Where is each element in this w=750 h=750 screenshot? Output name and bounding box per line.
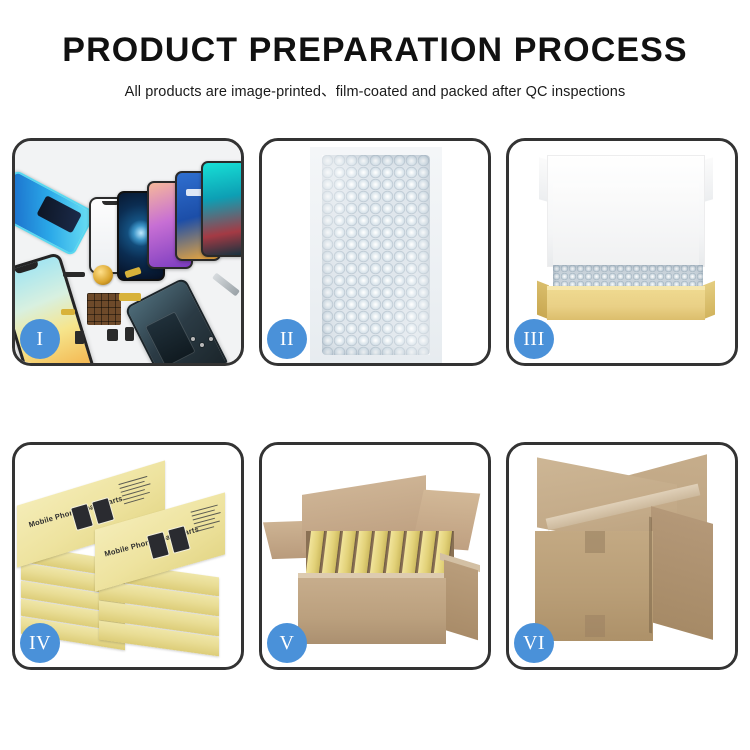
process-step-grid: I II III [12, 138, 738, 670]
chip-part-2 [75, 331, 84, 344]
bubble-wrap-gloss [322, 155, 430, 355]
step-badge-3: III [514, 319, 554, 359]
page-header: PRODUCT PREPARATION PROCESS All products… [0, 0, 750, 101]
step-badge-6: VI [514, 623, 554, 663]
process-step-panel-4[interactable]: Mobile Phone Spare Parts Mobile Phone Sp… [12, 442, 244, 670]
tweezer-tool [212, 273, 240, 297]
process-step-panel-2[interactable]: II [259, 138, 491, 366]
phone-internals-opened [124, 277, 230, 363]
page-subtitle: All products are image-printed、film-coat… [0, 80, 750, 101]
inner-box-front-panel [547, 290, 705, 320]
inner-box-foam-sheet [553, 183, 699, 265]
step-badge-4: IV [20, 623, 60, 663]
chip-part-4 [125, 327, 134, 341]
chip-part-1 [63, 272, 85, 277]
process-step-panel-5[interactable]: V [259, 442, 491, 670]
carton-front-face [298, 578, 446, 644]
page-title: PRODUCT PREPARATION PROCESS [0, 33, 750, 69]
process-step-panel-3[interactable]: III [506, 138, 738, 366]
flex-cable-2 [119, 293, 141, 301]
speaker-coil-part [93, 265, 113, 285]
chip-part-3 [107, 329, 118, 341]
flex-cable-3 [61, 309, 75, 315]
screw-part-2 [200, 343, 204, 347]
process-step-panel-6[interactable]: VI [506, 442, 738, 670]
step-badge-1: I [20, 319, 60, 359]
sealed-carton-right-face [651, 506, 713, 640]
step-badge-2: II [267, 319, 307, 359]
screw-part-1 [191, 337, 195, 341]
sealed-carton-flap-tab-bottom [585, 615, 605, 637]
phone-screen-teal [201, 161, 241, 257]
screw-mat-part [87, 293, 121, 325]
phone-tilted-cyan [15, 169, 96, 256]
step-badge-5: V [267, 623, 307, 663]
screw-part-3 [209, 337, 213, 341]
sealed-carton-vertical-edge [649, 517, 652, 634]
process-step-panel-1[interactable]: I [12, 138, 244, 366]
carton-right-face [444, 560, 478, 640]
sealed-carton-flap-tab-top [585, 531, 605, 553]
